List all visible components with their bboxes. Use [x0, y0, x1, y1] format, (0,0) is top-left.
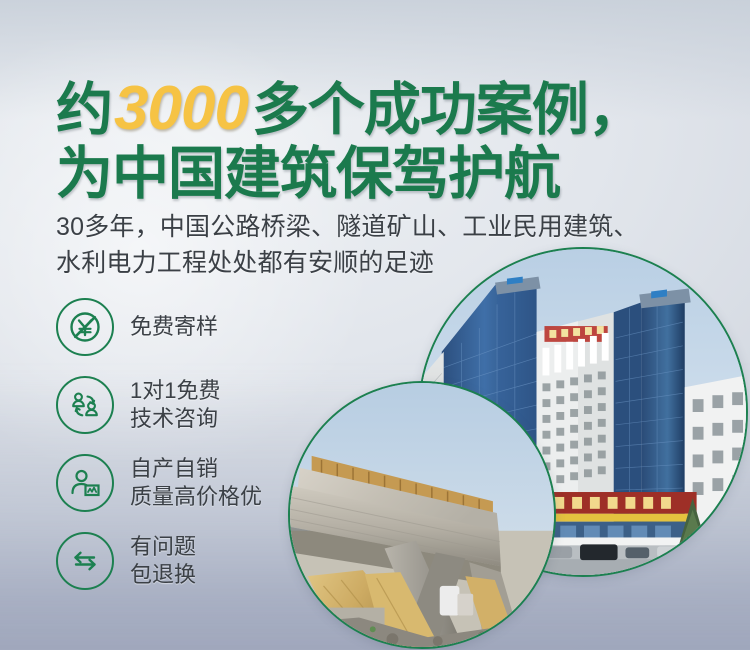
- feature-item-self-production[interactable]: 自产自销 质量高价格优: [56, 452, 336, 514]
- feature-label-line-1: 有问题: [130, 533, 196, 561]
- subcopy: 30多年，中国公路桥梁、隧道矿山、工业民用建筑、 水利电力工程处处都有安顺的足迹: [56, 209, 639, 281]
- feature-label: 免费寄样: [130, 313, 218, 341]
- headline-prefix: 约: [56, 78, 112, 142]
- self-production-icon: [56, 454, 114, 512]
- consultation-icon: [56, 376, 114, 434]
- subcopy-line-1: 30多年，中国公路桥梁、隧道矿山、工业民用建筑、: [56, 209, 639, 245]
- feature-label: 有问题 包退换: [130, 533, 196, 589]
- feature-label-line-2: 技术咨询: [130, 405, 220, 433]
- feature-label-line-1: 自产自销: [130, 455, 262, 483]
- feature-label-line-1: 免费寄样: [130, 314, 218, 339]
- subcopy-line-2: 水利电力工程处处都有安顺的足迹: [56, 245, 639, 281]
- feature-label: 自产自销 质量高价格优: [130, 455, 262, 511]
- feature-item-exchange[interactable]: 有问题 包退换: [56, 530, 336, 592]
- free-sample-icon: [56, 298, 114, 356]
- headline-number: 3000: [112, 74, 252, 143]
- headline-line-2: 为中国建筑保驾护航: [56, 143, 644, 205]
- feature-label: 1对1免费 技术咨询: [130, 377, 220, 433]
- feature-label-line-2: 包退换: [130, 561, 196, 589]
- feature-list: 免费寄样 1对1免费 技术咨询: [56, 296, 336, 608]
- promo-banner: 约3000多个成功案例， 为中国建筑保驾护航 30多年，中国公路桥梁、隧道矿山、…: [0, 0, 750, 650]
- feature-item-consultation[interactable]: 1对1免费 技术咨询: [56, 374, 336, 436]
- headline: 约3000多个成功案例， 为中国建筑保驾护航: [56, 78, 644, 205]
- feature-label-line-2: 质量高价格优: [130, 483, 262, 511]
- headline-suffix: 多个成功案例，: [252, 78, 644, 142]
- feature-label-line-1: 1对1免费: [130, 377, 220, 405]
- headline-line-1: 约3000多个成功案例，: [56, 78, 644, 141]
- feature-item-free-sample[interactable]: 免费寄样: [56, 296, 336, 358]
- exchange-icon: [56, 532, 114, 590]
